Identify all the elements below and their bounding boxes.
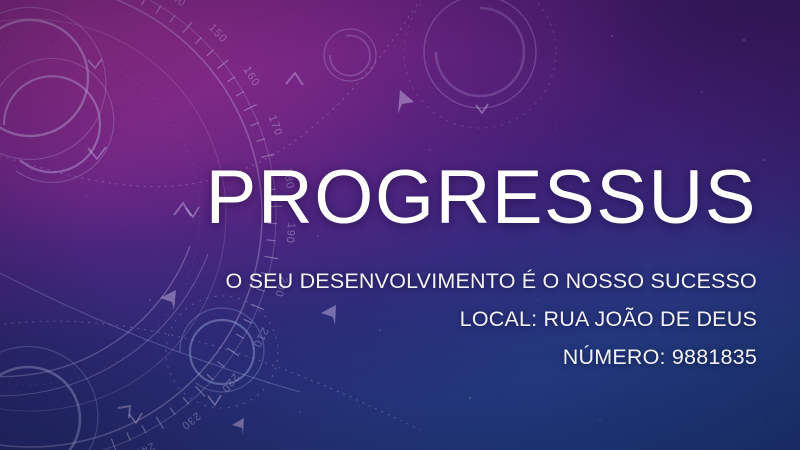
svg-text:230: 230 [179, 409, 203, 432]
svg-text:150: 150 [206, 22, 229, 46]
title-slide: 140 150 160 170 180 190 200 210 220 230 … [0, 0, 800, 450]
title-text-block: PROGRESSUS O SEU DESENVOLVIMENTO É O NOS… [60, 160, 757, 376]
slide-subtitle-line-3: NÚMERO: 9881835 [60, 338, 757, 376]
svg-text:160: 160 [241, 64, 262, 88]
slide-subtitle-line-1: O SEU DESENVOLVIMENTO É O NOSSO SUCESSO [60, 262, 757, 300]
svg-text:240: 240 [132, 440, 156, 450]
svg-text:140: 140 [164, 0, 188, 10]
slide-subtitle-group: O SEU DESENVOLVIMENTO É O NOSSO SUCESSO … [60, 262, 757, 376]
ring-decoration-small-upper [324, 29, 376, 81]
ring-decoration-upper-left [0, 7, 106, 159]
ring-decoration-upper-middle [404, 0, 556, 128]
slide-subtitle-line-2: LOCAL: RUA JOÃO DE DEUS [60, 300, 757, 338]
svg-text:170: 170 [266, 114, 285, 138]
slide-title: PROGRESSUS [60, 160, 757, 236]
